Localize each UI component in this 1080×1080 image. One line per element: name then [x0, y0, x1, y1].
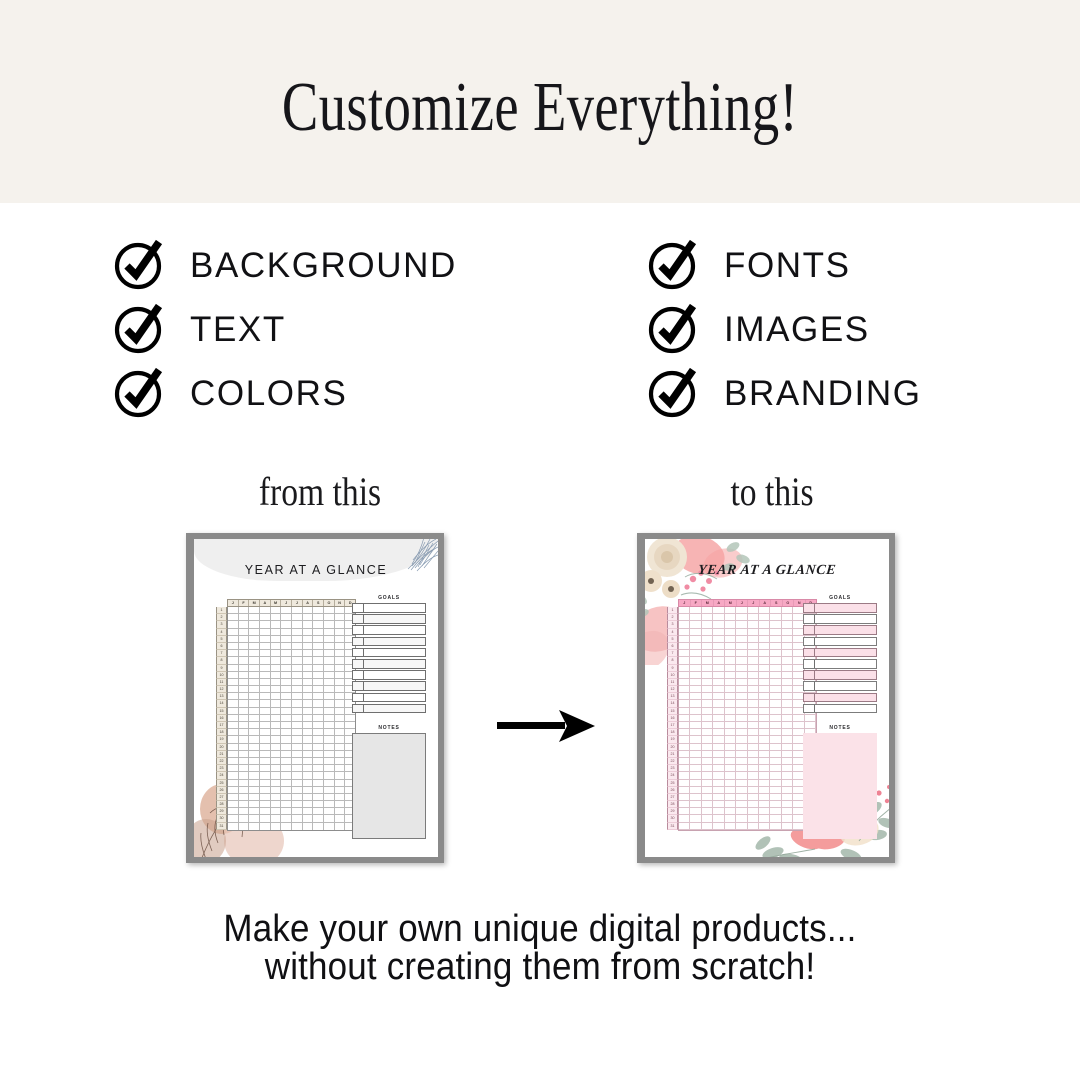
notes-box[interactable] [352, 733, 426, 839]
grid-row[interactable] [679, 686, 816, 693]
goal-row[interactable] [352, 704, 426, 714]
month-label: S [771, 600, 783, 606]
grid-row[interactable] [679, 715, 816, 722]
day-cell: 16 [216, 715, 227, 722]
grid-row[interactable] [228, 744, 355, 751]
feature-label: FONTS [724, 245, 851, 283]
goal-row[interactable] [352, 614, 426, 624]
grid-row[interactable] [228, 722, 355, 729]
day-cell: 17 [667, 722, 678, 729]
notes-label: NOTES [352, 725, 426, 731]
day-cell: 15 [667, 708, 678, 715]
feature-item-text[interactable]: TEXT [112, 296, 457, 360]
grid-row[interactable] [679, 758, 816, 765]
day-cell: 30 [216, 815, 227, 822]
grid-row[interactable] [228, 751, 355, 758]
grid-row[interactable] [228, 621, 355, 628]
check-circle-icon [646, 300, 702, 356]
goal-line[interactable] [815, 660, 876, 668]
feature-label: COLORS [190, 373, 347, 411]
day-cell: 28 [667, 801, 678, 808]
day-cell: 12 [667, 686, 678, 693]
goal-row[interactable] [803, 614, 877, 624]
day-cell: 21 [667, 751, 678, 758]
grid-row[interactable] [679, 801, 816, 808]
goal-checkbox[interactable] [804, 615, 815, 623]
goal-row[interactable] [352, 670, 426, 680]
grid-row[interactable] [679, 657, 816, 664]
year-grid-before: 1 2 3 4 5 6 7 8 9 10 11 12 13 14 15 16 1 [216, 599, 356, 831]
feature-label: IMAGES [724, 309, 870, 347]
goal-checkbox[interactable] [353, 671, 364, 679]
day-cell: 3 [667, 621, 678, 628]
grid-row[interactable] [679, 744, 816, 751]
day-cell: 23 [216, 765, 227, 772]
day-cell: 20 [216, 744, 227, 751]
month-header-row: J F M A M J J A S O N D [678, 599, 817, 607]
check-circle-icon [112, 300, 168, 356]
grid-row[interactable] [228, 672, 355, 679]
goal-row[interactable] [352, 681, 426, 691]
planner-title-after: YEAR AT A GLANCE [645, 563, 889, 579]
month-label: A [760, 600, 772, 606]
goals-panel-before: GOALS [352, 595, 426, 715]
day-cell: 14 [667, 700, 678, 707]
month-label: O [783, 600, 795, 606]
day-cell: 12 [216, 686, 227, 693]
grid-row[interactable] [679, 621, 816, 628]
day-cell: 5 [667, 636, 678, 643]
goal-row[interactable] [352, 648, 426, 658]
day-column-header [667, 599, 678, 607]
month-label: O [324, 600, 335, 606]
feature-label: BACKGROUND [190, 245, 457, 283]
goal-line[interactable] [815, 626, 876, 634]
month-grid: J F M A M J J A S O N D [678, 599, 817, 831]
goal-row[interactable] [803, 704, 877, 714]
grid-row[interactable] [679, 636, 816, 643]
day-cell: 17 [216, 722, 227, 729]
day-cell: 16 [667, 715, 678, 722]
grid-row[interactable] [228, 815, 355, 822]
month-label: A [260, 600, 271, 606]
month-label: M [271, 600, 282, 606]
goals-label: GOALS [352, 595, 426, 601]
day-cell: 13 [667, 693, 678, 700]
goal-row[interactable] [803, 625, 877, 635]
goal-line[interactable] [364, 626, 425, 634]
goal-line[interactable] [815, 705, 876, 713]
goals-label: GOALS [803, 595, 877, 601]
grid-row[interactable] [679, 708, 816, 715]
goal-checkbox[interactable] [804, 694, 815, 702]
planner-page-after: YEAR AT A GLANCE 1 2 3 4 5 6 7 8 9 10 11… [645, 539, 889, 857]
grid-row[interactable] [228, 708, 355, 715]
day-cell: 20 [667, 744, 678, 751]
day-cell: 10 [216, 672, 227, 679]
month-header-row: J F M A M J J A S O N D [227, 599, 356, 607]
grid-row[interactable] [679, 722, 816, 729]
day-number-column: 1 2 3 4 5 6 7 8 9 10 11 12 13 14 15 16 1 [216, 599, 227, 831]
grid-row[interactable] [228, 715, 355, 722]
feature-label: BRANDING [724, 373, 922, 411]
day-number-column: 1 2 3 4 5 6 7 8 9 10 11 12 13 14 15 16 1 [667, 599, 678, 831]
grid-row[interactable] [679, 823, 816, 830]
grid-row[interactable] [228, 679, 355, 686]
check-circle-icon [112, 364, 168, 420]
goal-row[interactable] [352, 693, 426, 703]
day-cell: 26 [216, 787, 227, 794]
grid-row[interactable] [679, 765, 816, 772]
goal-row[interactable] [352, 659, 426, 669]
grid-row[interactable] [228, 665, 355, 672]
grid-row[interactable] [679, 672, 816, 679]
day-cell: 27 [216, 794, 227, 801]
day-cell: 18 [667, 729, 678, 736]
grid-row[interactable] [679, 607, 816, 614]
grid-row[interactable] [679, 679, 816, 686]
grid-row[interactable] [228, 729, 355, 736]
month-grid: J F M A M J J A S O N D [227, 599, 356, 831]
month-label: S [313, 600, 324, 606]
planner-preview-before[interactable]: YEAR AT A GLANCE 1 2 3 4 5 6 7 8 9 10 11… [186, 533, 444, 863]
day-cell: 11 [216, 679, 227, 686]
goal-line[interactable] [815, 671, 876, 679]
grid-row[interactable] [679, 736, 816, 743]
month-label: J [737, 600, 749, 606]
tagline: Make your own unique digital products...… [0, 912, 1080, 984]
check-circle-icon [112, 236, 168, 292]
goal-checkbox[interactable] [353, 694, 364, 702]
grid-row[interactable] [679, 729, 816, 736]
grid-row[interactable] [679, 772, 816, 779]
grid-row[interactable] [228, 686, 355, 693]
day-cell: 1 [667, 607, 678, 614]
day-cell: 5 [216, 636, 227, 643]
before-caption: from this [219, 468, 421, 515]
goal-checkbox[interactable] [804, 649, 815, 657]
tagline-line-1: Make your own unique digital products... [43, 912, 1037, 946]
day-column-header [216, 599, 227, 607]
month-label: J [281, 600, 292, 606]
goal-checkbox[interactable] [353, 615, 364, 623]
grid-row[interactable] [228, 629, 355, 636]
grid-body-after[interactable] [678, 607, 817, 831]
month-label: M [725, 600, 737, 606]
day-cell: 24 [216, 772, 227, 779]
goals-panel-after: GOALS [803, 595, 877, 715]
day-cell: 8 [667, 657, 678, 664]
day-cell: 7 [667, 650, 678, 657]
grid-row[interactable] [228, 650, 355, 657]
goal-line[interactable] [364, 705, 425, 713]
day-cell: 21 [216, 751, 227, 758]
grid-body-before[interactable] [227, 607, 356, 831]
check-circle-icon [646, 236, 702, 292]
goal-line[interactable] [815, 604, 876, 612]
goal-line[interactable] [815, 638, 876, 646]
planner-title-before: YEAR AT A GLANCE [194, 563, 438, 577]
goal-row[interactable] [803, 603, 877, 613]
goal-checkbox[interactable] [353, 638, 364, 646]
day-cell: 19 [216, 736, 227, 743]
goal-checkbox[interactable] [804, 604, 815, 612]
goal-line[interactable] [364, 671, 425, 679]
grid-row[interactable] [679, 815, 816, 822]
after-caption: to this [688, 468, 856, 515]
day-cell: 10 [667, 672, 678, 679]
goal-row[interactable] [803, 681, 877, 691]
grid-row[interactable] [228, 801, 355, 808]
goal-line[interactable] [815, 615, 876, 623]
grid-row[interactable] [228, 607, 355, 614]
planner-page-before: YEAR AT A GLANCE 1 2 3 4 5 6 7 8 9 10 11… [194, 539, 438, 857]
grid-row[interactable] [228, 772, 355, 779]
feature-column-right: FONTS IMAGES BRANDING [646, 232, 922, 424]
grid-row[interactable] [228, 765, 355, 772]
goal-line[interactable] [364, 649, 425, 657]
day-cell: 24 [667, 772, 678, 779]
day-cell: 25 [216, 780, 227, 787]
grid-row[interactable] [228, 643, 355, 650]
month-label: J [292, 600, 303, 606]
day-cell: 4 [216, 629, 227, 636]
month-label: J [679, 600, 691, 606]
grid-row[interactable] [679, 700, 816, 707]
feature-item-images[interactable]: IMAGES [646, 296, 922, 360]
day-cell: 9 [216, 665, 227, 672]
day-cell: 26 [667, 787, 678, 794]
grid-row[interactable] [228, 700, 355, 707]
day-cell: 1 [216, 607, 227, 614]
notes-panel-after: NOTES [803, 725, 877, 839]
day-cell: 15 [216, 708, 227, 715]
day-cell: 30 [667, 815, 678, 822]
goal-checkbox[interactable] [804, 705, 815, 713]
grid-row[interactable] [228, 808, 355, 815]
goal-checkbox[interactable] [353, 660, 364, 668]
goal-checkbox[interactable] [353, 682, 364, 690]
day-cell: 25 [667, 780, 678, 787]
goal-line[interactable] [364, 660, 425, 668]
goal-row[interactable] [803, 670, 877, 680]
page-title: Customize Everything! [119, 68, 961, 148]
day-cell: 7 [216, 650, 227, 657]
grid-row[interactable] [228, 693, 355, 700]
grid-row[interactable] [679, 794, 816, 801]
grid-row[interactable] [679, 643, 816, 650]
goal-line[interactable] [815, 694, 876, 702]
feature-item-fonts[interactable]: FONTS [646, 232, 922, 296]
goal-line[interactable] [364, 638, 425, 646]
grid-row[interactable] [679, 751, 816, 758]
grid-row[interactable] [228, 758, 355, 765]
day-cell: 22 [216, 758, 227, 765]
day-cell: 6 [216, 643, 227, 650]
goal-checkbox[interactable] [804, 626, 815, 634]
month-label: F [691, 600, 703, 606]
notes-panel-before: NOTES [352, 725, 426, 839]
goal-line[interactable] [364, 615, 425, 623]
day-cell: 29 [667, 808, 678, 815]
month-label: J [748, 600, 760, 606]
day-cell: 4 [667, 629, 678, 636]
day-cell: 2 [216, 614, 227, 621]
grid-row[interactable] [679, 614, 816, 621]
feature-checklist: BACKGROUND TEXT COLORS [0, 232, 1080, 437]
feature-item-branding[interactable]: BRANDING [646, 360, 922, 424]
month-label: A [714, 600, 726, 606]
goal-line[interactable] [364, 694, 425, 702]
arrow-right-icon [497, 707, 595, 745]
notes-box[interactable] [803, 733, 877, 839]
month-label: M [249, 600, 260, 606]
goal-checkbox[interactable] [804, 682, 815, 690]
check-circle-icon [646, 364, 702, 420]
day-cell: 18 [216, 729, 227, 736]
goal-line[interactable] [815, 682, 876, 690]
day-cell: 28 [216, 801, 227, 808]
month-label: J [228, 600, 239, 606]
month-label: M [702, 600, 714, 606]
goal-line[interactable] [364, 604, 425, 612]
month-label: N [335, 600, 346, 606]
tagline-line-2: without creating them from scratch! [43, 950, 1037, 984]
day-cell: 6 [667, 643, 678, 650]
goal-row[interactable] [803, 648, 877, 658]
day-cell: 19 [667, 736, 678, 743]
goal-line[interactable] [364, 682, 425, 690]
feature-column-left: BACKGROUND TEXT COLORS [112, 232, 457, 424]
year-grid-after: 1 2 3 4 5 6 7 8 9 10 11 12 13 14 15 16 1 [667, 599, 817, 831]
goal-checkbox[interactable] [353, 705, 364, 713]
goal-checkbox[interactable] [804, 660, 815, 668]
planner-preview-after[interactable]: YEAR AT A GLANCE 1 2 3 4 5 6 7 8 9 10 11… [637, 533, 895, 863]
goal-checkbox[interactable] [353, 604, 364, 612]
day-cell: 31 [216, 823, 227, 830]
day-cell: 2 [667, 614, 678, 621]
grid-row[interactable] [679, 650, 816, 657]
goal-row[interactable] [352, 625, 426, 635]
grid-row[interactable] [228, 787, 355, 794]
grid-row[interactable] [679, 787, 816, 794]
grid-row[interactable] [228, 636, 355, 643]
month-label: A [303, 600, 314, 606]
goal-row[interactable] [803, 659, 877, 669]
grid-row[interactable] [679, 665, 816, 672]
day-cell: 3 [216, 621, 227, 628]
grid-row[interactable] [679, 808, 816, 815]
grid-row[interactable] [679, 780, 816, 787]
goal-row[interactable] [352, 637, 426, 647]
day-cell: 8 [216, 657, 227, 664]
goal-line[interactable] [815, 649, 876, 657]
grid-row[interactable] [228, 794, 355, 801]
grid-row[interactable] [228, 657, 355, 664]
month-label: F [239, 600, 250, 606]
day-cell: 23 [667, 765, 678, 772]
poster-canvas: Customize Everything! BACKGROUND [0, 0, 1080, 1080]
grid-row[interactable] [679, 629, 816, 636]
goal-checkbox[interactable] [804, 671, 815, 679]
grid-row[interactable] [228, 780, 355, 787]
goal-checkbox[interactable] [353, 626, 364, 634]
day-cell: 29 [216, 808, 227, 815]
feature-item-colors[interactable]: COLORS [112, 360, 457, 424]
day-cell: 11 [667, 679, 678, 686]
day-cell: 13 [216, 693, 227, 700]
day-cell: 22 [667, 758, 678, 765]
grid-row[interactable] [228, 736, 355, 743]
grid-row[interactable] [228, 614, 355, 621]
goal-row[interactable] [803, 637, 877, 647]
day-cell: 9 [667, 665, 678, 672]
grid-row[interactable] [228, 823, 355, 830]
goal-row[interactable] [352, 603, 426, 613]
notes-label: NOTES [803, 725, 877, 731]
grid-row[interactable] [679, 693, 816, 700]
day-cell: 27 [667, 794, 678, 801]
day-cell: 14 [216, 700, 227, 707]
feature-label: TEXT [190, 309, 286, 347]
goal-row[interactable] [803, 693, 877, 703]
goal-checkbox[interactable] [353, 649, 364, 657]
day-cell: 31 [667, 823, 678, 830]
goal-checkbox[interactable] [804, 638, 815, 646]
feature-item-background[interactable]: BACKGROUND [112, 232, 457, 296]
